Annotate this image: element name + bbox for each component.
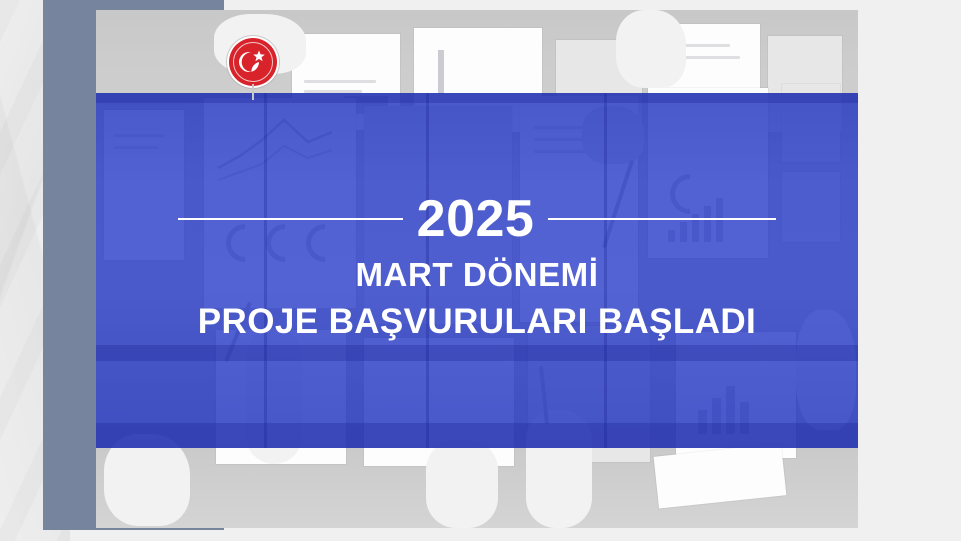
slide-canvas: 2025 MART DÖNEMİ PROJE BAŞVURULARI BAŞLA… bbox=[0, 0, 961, 541]
turkish-crescent-star-seal-icon bbox=[229, 38, 277, 86]
seal-stem bbox=[252, 84, 254, 100]
hand-silhouette bbox=[616, 10, 686, 88]
ministry-seal-logo bbox=[224, 38, 282, 100]
arm-sleeve bbox=[426, 440, 498, 528]
slate-accent-bar bbox=[43, 0, 96, 530]
slide-photo-card: 2025 MART DÖNEMİ PROJE BAŞVURULARI BAŞLA… bbox=[96, 10, 858, 528]
crescent-star-icon bbox=[229, 38, 277, 86]
blue-overlay-band bbox=[96, 93, 858, 448]
